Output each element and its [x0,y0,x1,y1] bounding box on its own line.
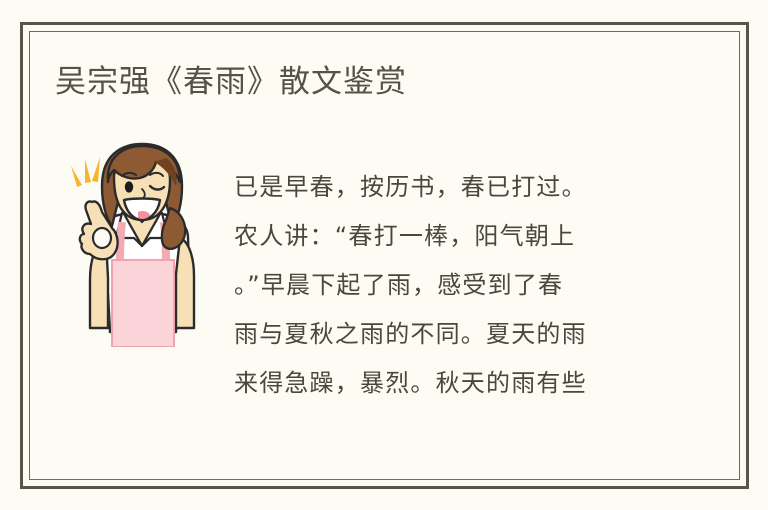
eye-left-open [125,181,133,192]
article-body: 已是早春，按历书，春已打过。 农人讲：“春打一棒，阳气朝上 。”早晨下起了雨，感… [234,163,654,408]
sparkle-icon [71,157,100,187]
page-root: 吴宗强《春雨》散文鉴赏 [0,0,768,510]
illustration-cartoon-woman [58,142,208,347]
article-line: 已是早春，按历书，春已打过。 [234,163,654,212]
article-line: 农人讲：“春打一棒，阳气朝上 [234,212,654,261]
article-line: 。”早晨下起了雨，感受到了春 [234,261,654,310]
article-line: 雨与夏秋之雨的不同。夏天的雨 [234,310,654,359]
page-title: 吴宗强《春雨》散文鉴赏 [55,61,407,103]
right-arm [176,238,194,328]
article-line: 来得急躁，暴烈。秋天的雨有些 [234,359,654,408]
